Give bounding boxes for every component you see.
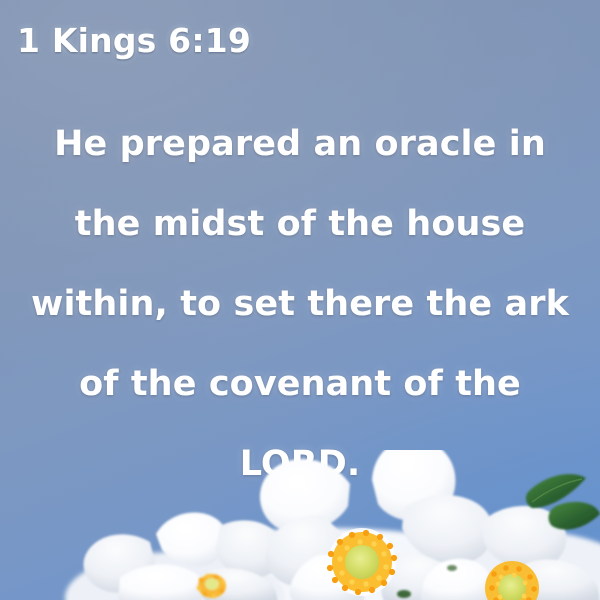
verse-reference: 1 Kings 6:19 [17,21,251,60]
flower-illustration [0,450,600,600]
verse-image-canvas: 1 Kings 6:19 He prepared an oracle in th… [0,0,600,600]
flower-band [0,450,600,600]
verse-line-3: within, to set there the ark [0,264,600,344]
verse-line-4: of the covenant of the [0,344,600,424]
verse-body-text: He prepared an oracle in the midst of th… [0,104,600,504]
verse-line-2: the midst of the house [0,184,600,264]
flower-main-center [345,545,379,579]
verse-line-1: He prepared an oracle in [0,104,600,184]
leaf-lower-right [549,502,600,530]
flower-left [83,512,283,600]
